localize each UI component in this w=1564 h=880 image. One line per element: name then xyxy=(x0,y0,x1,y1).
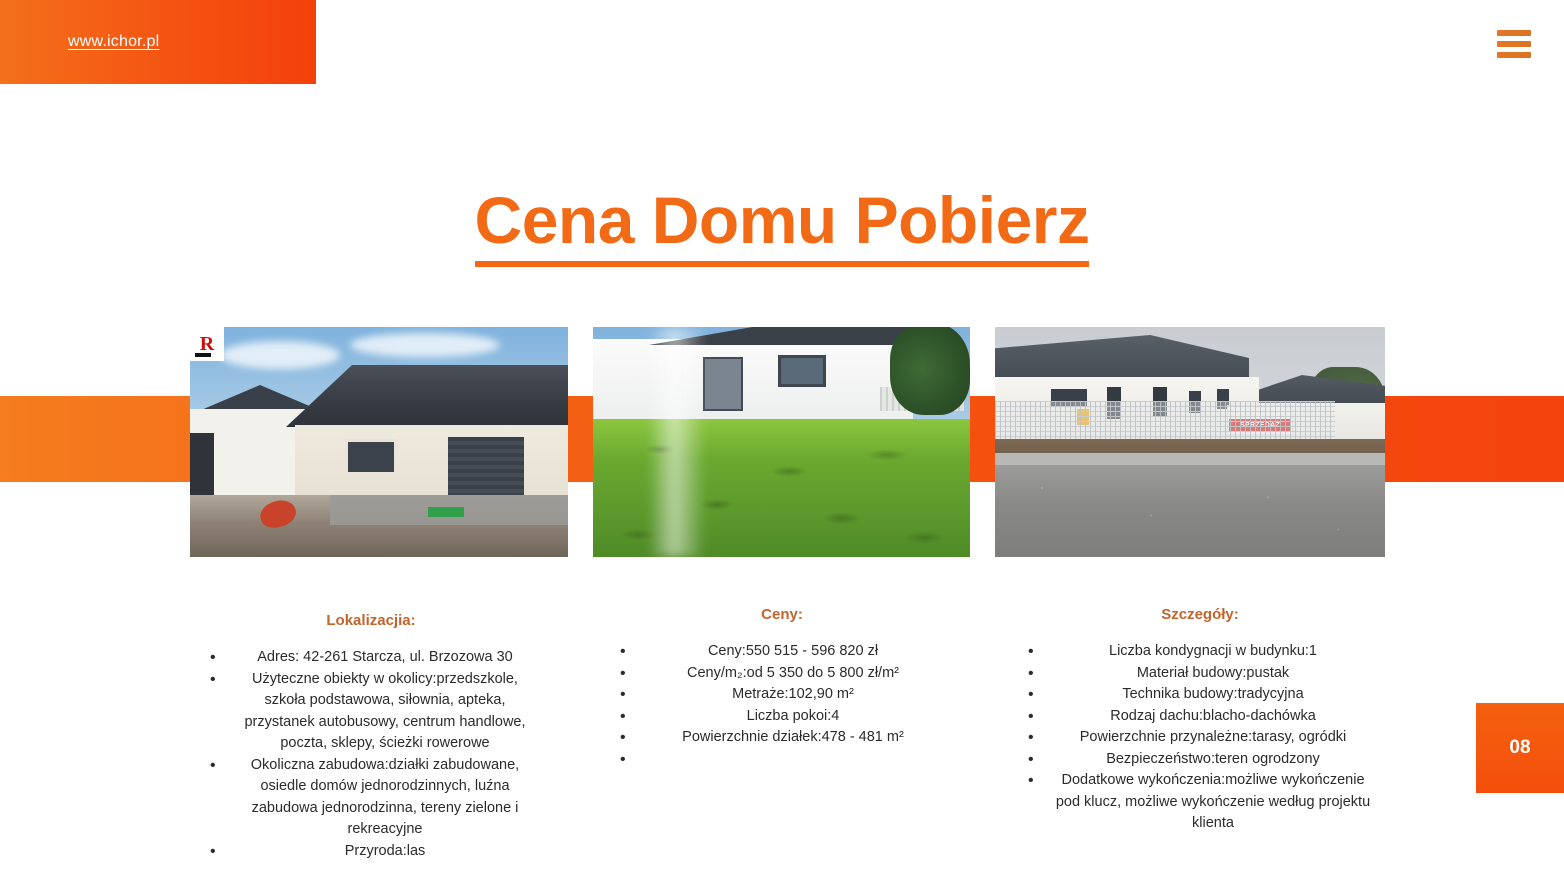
list-item: Bezpieczeństwo:teren ogrodzony xyxy=(1010,749,1390,771)
column-heading-ceny: Ceny: xyxy=(600,606,964,623)
photo1-green-mat xyxy=(428,507,464,517)
photo2-patio-door xyxy=(703,357,743,411)
photo-house-with-garage: R xyxy=(190,327,568,557)
list-lokalizacja: Adres: 42-261 Starcza, ul. Brzozowa 30 U… xyxy=(186,647,556,862)
photo1-cloud xyxy=(220,341,340,369)
page-number-badge: 08 xyxy=(1476,703,1564,793)
hamburger-menu-icon[interactable] xyxy=(1497,30,1531,58)
list-item: Metraże:102,90 m² xyxy=(600,684,964,706)
photo-house-with-lawn xyxy=(593,327,970,557)
list-item: Liczba kondygnacji w budynku:1 xyxy=(1010,641,1390,663)
photo-terraced-houses: SPRZEDAŻ xyxy=(995,327,1385,557)
hamburger-bar-1 xyxy=(1497,30,1531,36)
photo1-watermark-logo: R xyxy=(190,327,224,361)
list-szczegoly: Liczba kondygnacji w budynku:1 Materiał … xyxy=(1010,641,1390,835)
list-ceny: Ceny:550 515 - 596 820 zł Ceny/m₂:od 5 3… xyxy=(600,641,964,770)
list-item-empty xyxy=(600,749,964,771)
photo1-cloud xyxy=(350,333,500,357)
photo2-wall xyxy=(593,339,913,425)
photo1-window xyxy=(345,439,397,475)
list-item: Powierzchnie działek:478 - 481 m² xyxy=(600,727,964,749)
column-heading-lokalizacja: Lokalizacjia: xyxy=(186,612,556,629)
list-item: Technika budowy:tradycyjna xyxy=(1010,684,1390,706)
page-title: Cena Domu Pobierz xyxy=(475,186,1090,267)
slide-canvas: www.ichor.pl Cena Domu Pobierz R xyxy=(0,0,1564,880)
photo2-sun-flare xyxy=(648,327,706,557)
list-item: Materiał budowy:pustak xyxy=(1010,663,1390,685)
list-item: Powierzchnie przynależne:tarasy, ogródki xyxy=(1010,727,1390,749)
list-item: Ceny/m₂:od 5 350 do 5 800 zł/m² xyxy=(600,663,964,685)
column-szczegoly: Szczegóły: Liczba kondygnacji w budynku:… xyxy=(1010,606,1390,835)
photo2-tree xyxy=(890,327,970,415)
header-banner: www.ichor.pl xyxy=(0,0,316,84)
hamburger-bar-3 xyxy=(1497,52,1531,58)
column-heading-szczegoly: Szczegóły: xyxy=(1010,606,1390,623)
photo2-window xyxy=(778,355,826,387)
hamburger-bar-2 xyxy=(1497,41,1531,47)
list-item: Ceny:550 515 - 596 820 zł xyxy=(600,641,964,663)
list-item: Rodzaj dachu:blacho-dachówka xyxy=(1010,706,1390,728)
list-item: Dodatkowe wykończenia:możliwe wykończeni… xyxy=(1010,770,1390,835)
list-item: Adres: 42-261 Starcza, ul. Brzozowa 30 xyxy=(186,647,556,669)
page-title-wrapper: Cena Domu Pobierz xyxy=(0,186,1564,267)
list-item: Przyroda:las xyxy=(186,841,556,863)
list-item: Liczba pokoi:4 xyxy=(600,706,964,728)
photo3-road xyxy=(995,465,1385,557)
list-item: Użyteczne obiekty w okolicy:przedszkole,… xyxy=(186,669,556,755)
site-url-link[interactable]: www.ichor.pl xyxy=(68,33,159,51)
column-ceny: Ceny: Ceny:550 515 - 596 820 zł Ceny/m₂:… xyxy=(600,606,964,770)
column-lokalizacja: Lokalizacjia: Adres: 42-261 Starcza, ul.… xyxy=(186,612,556,862)
photo1-main-wall xyxy=(295,425,568,503)
list-item: Okoliczna zabudowa:działki zabudowane, o… xyxy=(186,755,556,841)
